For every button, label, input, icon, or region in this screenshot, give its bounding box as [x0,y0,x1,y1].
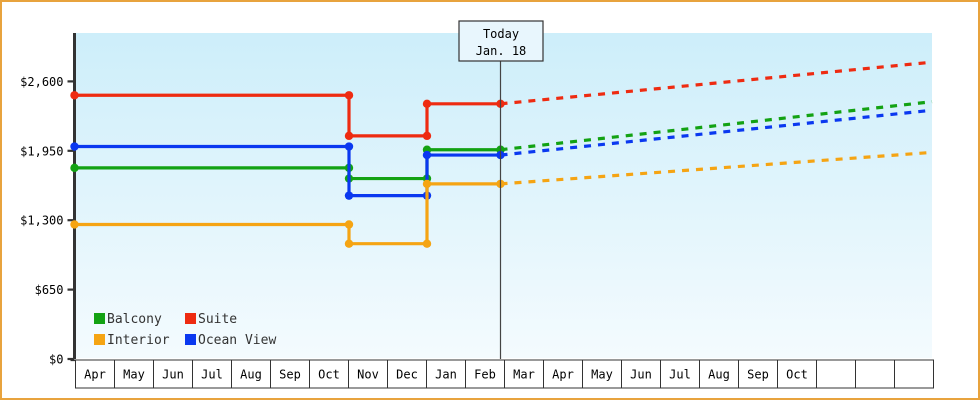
x-axis-cell-box[interactable] [856,360,895,388]
plot-area-background [74,33,932,358]
legend-label[interactable]: Interior [107,333,170,348]
y-tick-label: $650 [35,283,64,297]
x-axis-month-cell[interactable] [856,360,895,388]
x-axis-month-cell-aug[interactable]: Aug [232,360,271,388]
today-label-line1: Today [483,27,519,41]
x-axis: AprMayJunJulAugSepOctNovDecJanFebMarAprM… [71,360,934,388]
x-axis-month-label: Jul [201,368,223,382]
series-data-point [423,180,431,188]
x-axis-month-cell-jan[interactable]: Jan [427,360,466,388]
y-tick-label: $1,950 [20,144,63,158]
chart-frame: $0$650$1,300$1,950$2,600 Today Jan. 18 B… [0,0,980,400]
series-data-point [70,220,78,228]
series-data-point [423,132,431,140]
x-axis-month-label: May [591,368,613,382]
series-data-point [345,220,353,228]
series-data-point [345,191,353,199]
chart-stage: $0$650$1,300$1,950$2,600 Today Jan. 18 B… [2,2,978,398]
legend-label[interactable]: Ocean View [198,333,276,348]
series-data-point [423,100,431,108]
x-axis-month-cell-oct[interactable]: Oct [310,360,349,388]
x-axis-month-label: Sep [747,368,769,382]
x-axis-month-label: Aug [708,368,730,382]
x-axis-month-cell-aug[interactable]: Aug [700,360,739,388]
x-axis-month-label: Oct [318,368,340,382]
legend-label[interactable]: Balcony [107,312,162,327]
x-axis-month-cell[interactable] [895,360,934,388]
x-axis-month-label: Feb [474,368,496,382]
x-axis-month-label: Mar [513,368,535,382]
x-axis-month-cell-sep[interactable]: Sep [271,360,310,388]
series-data-point [345,91,353,99]
x-axis-month-cell-jul[interactable]: Jul [193,360,232,388]
x-axis-month-label: Apr [84,368,106,382]
x-axis-month-cell[interactable] [817,360,856,388]
x-axis-month-label: May [123,368,145,382]
x-axis-month-label: Nov [357,368,379,382]
x-axis-month-label: Jan [435,368,457,382]
legend-label[interactable]: Suite [198,312,237,327]
series-data-point [70,164,78,172]
x-axis-cell-box[interactable] [817,360,856,388]
x-axis-month-label: Apr [552,368,574,382]
x-axis-month-label: Jun [162,368,184,382]
legend-swatch [185,313,196,324]
x-axis-month-label: Aug [240,368,262,382]
x-axis-month-cell-nov[interactable]: Nov [349,360,388,388]
x-axis-month-label: Dec [396,368,418,382]
legend-swatch [94,334,105,345]
x-axis-month-cell-jul[interactable]: Jul [661,360,700,388]
x-axis-month-label: Oct [786,368,808,382]
x-axis-month-cell-apr[interactable]: Apr [544,360,583,388]
series-data-point [345,132,353,140]
x-axis-month-cell-oct[interactable]: Oct [778,360,817,388]
y-tick-label: $1,300 [20,214,63,228]
x-axis-month-label: Jul [669,368,691,382]
series-data-point [345,239,353,247]
x-axis-month-cell-may[interactable]: May [583,360,622,388]
today-label-line2: Jan. 18 [476,44,527,58]
x-axis-month-cell-jun[interactable]: Jun [154,360,193,388]
x-axis-month-label: Jun [630,368,652,382]
y-tick-label: $2,600 [20,75,63,89]
series-data-point [70,91,78,99]
x-axis-month-label: Sep [279,368,301,382]
x-axis-month-cell-apr[interactable]: Apr [76,360,115,388]
y-tick-label: $0 [49,353,63,367]
legend-swatch [185,334,196,345]
legend-swatch [94,313,105,324]
x-axis-month-cell-dec[interactable]: Dec [388,360,427,388]
series-data-point [423,239,431,247]
series-data-point [345,142,353,150]
x-axis-month-cell-feb[interactable]: Feb [466,360,505,388]
series-data-point [423,151,431,159]
x-axis-cell-box[interactable] [895,360,934,388]
x-axis-month-cell-sep[interactable]: Sep [739,360,778,388]
series-data-point [70,142,78,150]
x-axis-month-cell-jun[interactable]: Jun [622,360,661,388]
x-axis-month-cell-may[interactable]: May [115,360,154,388]
x-axis-month-cell-mar[interactable]: Mar [505,360,544,388]
